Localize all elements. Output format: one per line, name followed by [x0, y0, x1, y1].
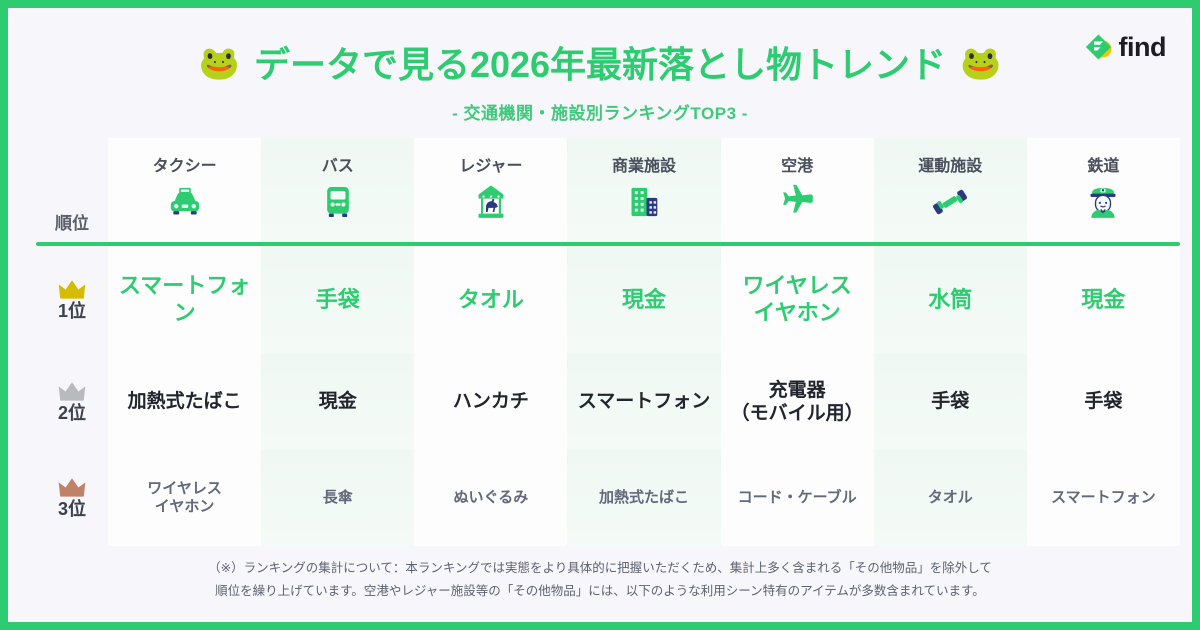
ranking-item-label: 現金 — [319, 390, 357, 413]
ranking-item-label: コード・ケーブル — [738, 489, 857, 507]
column-header-label: 鉄道 — [1087, 152, 1119, 176]
ranking-item-label: ワイヤレス イヤホン — [147, 480, 222, 517]
ranking-item-label: スマートフォン — [1051, 489, 1156, 507]
rank-column-header: 順位 — [36, 138, 108, 242]
ranking-cell: 水筒 — [874, 246, 1027, 354]
rank-cell: 2位 — [36, 354, 108, 450]
column-header-label: 商業施設 — [612, 152, 676, 176]
table-body: 1位スマートフォン手袋タオル現金ワイヤレス イヤホン水筒現金 2位加熱式たばこ現… — [36, 246, 1180, 546]
ranking-item-label: ハンカチ — [453, 390, 529, 413]
ranking-cell: ハンカチ — [414, 354, 567, 450]
ranking-table: 順位 タクシー バス レジャー 商業施設 — [36, 138, 1180, 546]
footnote: （※）ランキングの集計について：本ランキングでは実態をより具体的に把握いただくた… — [8, 557, 1192, 605]
column-header-label: バス — [322, 152, 354, 176]
ranking-item-label: ぬいぐるみ — [454, 489, 529, 507]
table-header-row: 順位 タクシー バス レジャー 商業施設 — [36, 138, 1180, 242]
ranking-item-label: タオル — [458, 287, 524, 314]
footnote-line-2: 順位を繰り上げています。空港やレジャー施設等の「その他物品」には、以下のような利… — [98, 580, 1102, 604]
ranking-item-label: 充電器 （モバイル用） — [731, 379, 864, 425]
title-row: 🐸 データで見る2026年最新落とし物トレンド 🐸 — [8, 8, 1192, 88]
gold-crown-icon — [57, 278, 87, 300]
ranking-item-label: 現金 — [1081, 287, 1125, 314]
footnote-line-1: （※）ランキングの集計について：本ランキングでは実態をより具体的に把握いただくた… — [98, 557, 1102, 581]
column-header-taxi: タクシー — [108, 138, 261, 242]
column-header-label: 空港 — [781, 152, 813, 176]
ranking-cell: スマートフォン — [567, 354, 720, 450]
rank-label: 2位 — [58, 403, 86, 425]
rank-label: 1位 — [58, 301, 86, 323]
bus-icon — [318, 182, 358, 222]
station-staff-icon — [1083, 182, 1123, 222]
frog-icon-left: 🐸 — [199, 46, 240, 79]
ranking-item-label: 手袋 — [1084, 390, 1122, 413]
find-logo-text: find — [1119, 34, 1166, 61]
ranking-item-label: 加熱式たばこ — [599, 489, 689, 507]
header: find 🐸 データで見る2026年最新落とし物トレンド 🐸 - 交通機関・施設… — [8, 8, 1192, 126]
ranking-cell: ワイヤレス イヤホン — [108, 450, 261, 546]
column-header-station-staff: 鉄道 — [1027, 138, 1180, 242]
ranking-cell: 手袋 — [261, 246, 414, 354]
ranking-item-label: スマートフォン — [578, 390, 710, 413]
column-header-carousel: レジャー — [414, 138, 567, 242]
ranking-cell: 現金 — [1027, 246, 1180, 354]
rank-label: 3位 — [58, 499, 86, 521]
table-row: 2位加熱式たばこ現金ハンカチスマートフォン充電器 （モバイル用）手袋手袋 — [36, 354, 1180, 450]
find-logo-mark — [1084, 32, 1114, 62]
bronze-crown-icon — [57, 476, 87, 498]
office-building-icon — [624, 182, 664, 222]
ranking-item-label: スマートフォン — [112, 273, 257, 327]
ranking-cell: コード・ケーブル — [721, 450, 874, 546]
table-row: 3位ワイヤレス イヤホン長傘ぬいぐるみ加熱式たばこコード・ケーブルタオルスマート… — [36, 450, 1180, 546]
column-header-label: タクシー — [153, 152, 217, 176]
ranking-cell: タオル — [874, 450, 1027, 546]
ranking-cell: 加熱式たばこ — [108, 354, 261, 450]
column-header-airplane: 空港 — [721, 138, 874, 242]
column-header-office-building: 商業施設 — [567, 138, 720, 242]
page-title: データで見る2026年最新落とし物トレンド — [254, 36, 946, 88]
dumbbell-icon — [930, 182, 970, 222]
ranking-item-label: 加熱式たばこ — [128, 390, 242, 413]
rank-column-label: 順位 — [55, 209, 89, 234]
ranking-cell: ワイヤレス イヤホン — [721, 246, 874, 354]
column-header-label: 運動施設 — [918, 152, 982, 176]
ranking-item-label: 水筒 — [928, 287, 972, 314]
column-header-label: レジャー — [459, 152, 522, 176]
ranking-item-label: 手袋 — [931, 390, 969, 413]
ranking-item-label: 現金 — [622, 287, 666, 314]
ranking-cell: タオル — [414, 246, 567, 354]
ranking-cell: スマートフォン — [1027, 450, 1180, 546]
column-header-dumbbell: 運動施設 — [874, 138, 1027, 242]
ranking-cell: 現金 — [567, 246, 720, 354]
ranking-cell: 長傘 — [261, 450, 414, 546]
ranking-item-label: 手袋 — [316, 287, 360, 314]
taxi-icon — [165, 182, 205, 222]
rank-cell: 3位 — [36, 450, 108, 546]
ranking-item-label: 長傘 — [323, 489, 353, 507]
ranking-cell: 加熱式たばこ — [567, 450, 720, 546]
ranking-item-label: タオル — [928, 489, 973, 507]
ranking-item-label: ワイヤレス イヤホン — [742, 273, 851, 327]
ranking-cell: 手袋 — [874, 354, 1027, 450]
carousel-icon — [471, 182, 511, 222]
ranking-cell: 現金 — [261, 354, 414, 450]
ranking-cell: 手袋 — [1027, 354, 1180, 450]
rank-cell: 1位 — [36, 246, 108, 354]
table-row: 1位スマートフォン手袋タオル現金ワイヤレス イヤホン水筒現金 — [36, 246, 1180, 354]
frog-icon-right: 🐸 — [960, 46, 1001, 79]
ranking-cell: スマートフォン — [108, 246, 261, 354]
ranking-cell: ぬいぐるみ — [414, 450, 567, 546]
silver-crown-icon — [57, 380, 87, 402]
infographic-frame: find 🐸 データで見る2026年最新落とし物トレンド 🐸 - 交通機関・施設… — [8, 8, 1192, 622]
column-header-bus: バス — [261, 138, 414, 242]
ranking-cell: 充電器 （モバイル用） — [721, 354, 874, 450]
find-logo[interactable]: find — [1084, 32, 1166, 62]
airplane-icon — [777, 182, 817, 222]
page-subtitle: - 交通機関・施設別ランキングTOP3 - — [8, 99, 1192, 124]
